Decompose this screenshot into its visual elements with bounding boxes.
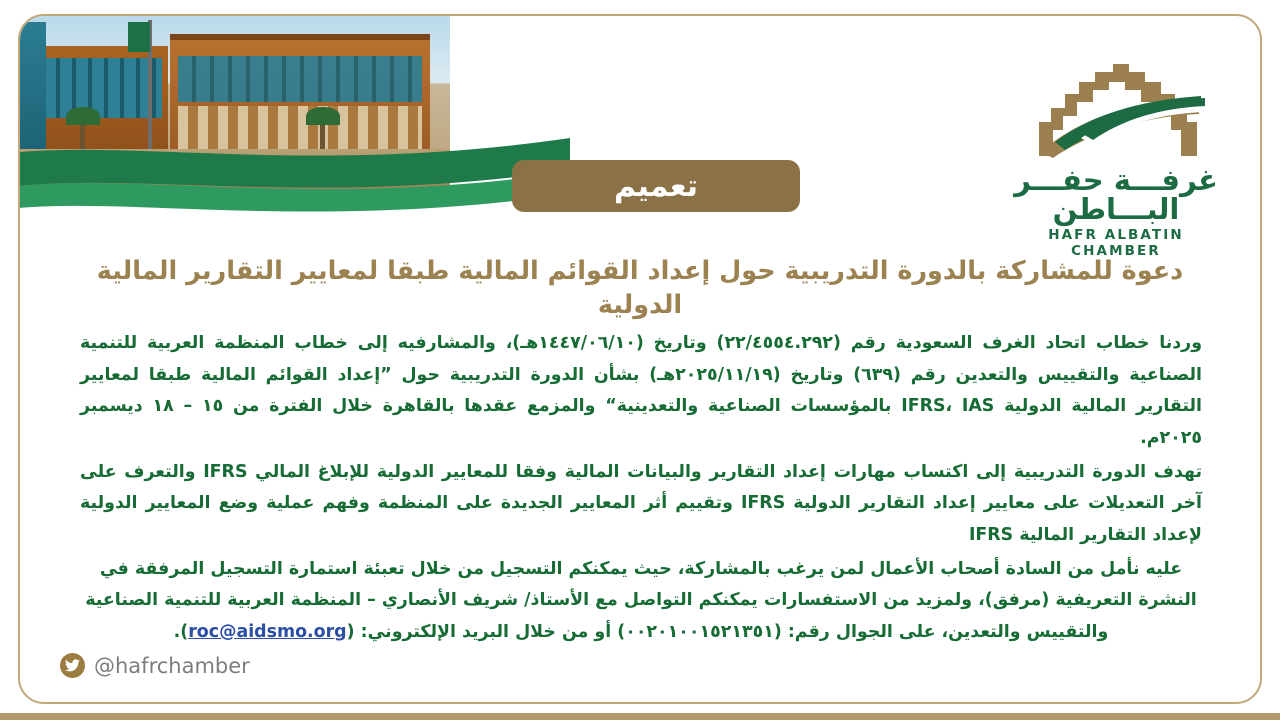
poster-frame: غرفـــة حفـــر البـــاطن HAFR ALBATIN CH…	[18, 14, 1262, 704]
body-paragraph-2: تهدف الدورة التدريبية إلى اكتساب مهارات …	[80, 457, 1202, 552]
announcement-poster: غرفـــة حفـــر البـــاطن HAFR ALBATIN CH…	[0, 0, 1280, 720]
twitter-handle: @hafrchamber	[94, 654, 250, 678]
body-paragraph-3: عليه نأمل من السادة أصحاب الأعمال لمن ير…	[80, 554, 1202, 649]
photo-building-left-glass	[44, 58, 162, 118]
contact-email-link[interactable]: roc@aidsmo.org	[188, 617, 346, 649]
announcement-body: وردنا خطاب اتحاد الغرف السعودية رقم (٢٢/…	[80, 328, 1202, 651]
circular-badge-label: تعميم	[614, 169, 698, 204]
photo-flag	[128, 22, 150, 52]
photo-ground	[20, 149, 450, 191]
body-paragraph-1: وردنا خطاب اتحاد الغرف السعودية رقم (٢٢/…	[80, 328, 1202, 455]
body-paragraph-3-text-after: ).	[174, 622, 189, 642]
logo-arabic-text: غرفـــة حفـــر البـــاطن	[1006, 166, 1226, 224]
chamber-arch-logo-icon	[1021, 56, 1211, 164]
page-title: دعوة للمشاركة بالدورة التدريبية حول إعدا…	[60, 254, 1220, 323]
twitter-bird-icon	[60, 653, 85, 678]
photo-building-glass	[178, 56, 422, 102]
chamber-building-photo	[20, 16, 450, 191]
twitter-footer[interactable]: @hafrchamber	[60, 653, 250, 678]
circular-badge: تعميم	[512, 160, 800, 212]
chamber-logo: غرفـــة حفـــر البـــاطن HAFR ALBATIN CH…	[1006, 56, 1226, 231]
bottom-accent-rule	[0, 713, 1280, 720]
